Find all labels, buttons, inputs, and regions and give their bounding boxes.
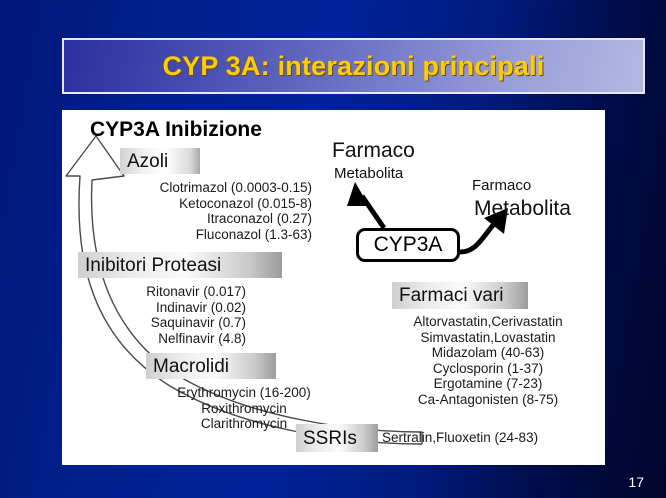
section-chip-inibitori-proteasi: Inibitori Proteasi: [78, 252, 282, 278]
slide-title-bar: CYP 3A: interazioni principali: [62, 38, 645, 94]
list-item: Ritonavir (0.017): [106, 284, 246, 300]
arrow-left-head: [347, 182, 369, 206]
chip-label: Azoli: [127, 152, 168, 171]
pathway-left-drug-label: Farmaco: [332, 140, 415, 162]
druglist-farmaci-vari: Altorvastatin,Cerivastatin Simvastatin,L…: [374, 314, 602, 407]
list-item: Clarithromycin: [162, 416, 326, 432]
list-item: Sertralin,Fluoxetin (24-83): [382, 430, 582, 446]
list-item: Ca-Antagonisten (8-75): [374, 392, 602, 408]
slide-canvas: CYP 3A: interazioni principali CYP3A Ini…: [0, 0, 666, 498]
arrow-right-shaft: [460, 224, 494, 252]
slide-number: 17: [628, 474, 644, 490]
list-item: Cyclosporin (1-37): [374, 361, 602, 377]
cyp3a-label: CYP3A: [374, 233, 443, 257]
list-item: Simvastatin,Lovastatin: [374, 330, 602, 346]
list-item: Ergotamine (7-23): [374, 376, 602, 392]
cyp3a-enzyme-box: CYP3A: [356, 228, 460, 262]
list-item: Roxithromycin: [162, 401, 326, 417]
list-item: Itraconazol (0.27): [140, 211, 312, 227]
druglist-macrolidi: Erythromycin (16-200) Roxithromycin Clar…: [162, 385, 326, 432]
page-title: CYP 3A: interazioni principali: [64, 40, 643, 92]
chip-label: Farmaci vari: [399, 286, 504, 305]
list-item: Fluconazol (1.3-63): [140, 227, 312, 243]
list-item: Midazolam (40-63): [374, 345, 602, 361]
content-panel: CYP3A Inibizione Azoli Clotrimazol (0.00…: [62, 110, 605, 465]
chip-label: Macrolidi: [153, 357, 229, 376]
list-item: Indinavir (0.02): [106, 300, 246, 316]
druglist-inibitori-proteasi: Ritonavir (0.017) Indinavir (0.02) Saqui…: [106, 284, 246, 346]
section-chip-farmaci-vari: Farmaci vari: [392, 282, 528, 309]
druglist-azoli: Clotrimazol (0.0003-0.15) Ketoconazol (0…: [140, 180, 312, 242]
list-item: Clotrimazol (0.0003-0.15): [140, 180, 312, 196]
list-item: Ketoconazol (0.015-8): [140, 196, 312, 212]
chip-label: Inibitori Proteasi: [85, 256, 221, 275]
panel-heading: CYP3A Inibizione: [90, 118, 262, 142]
druglist-ssris: Sertralin,Fluoxetin (24-83): [382, 430, 582, 446]
list-item: Erythromycin (16-200): [162, 385, 326, 401]
pathway-right-drug-label: Farmaco: [472, 178, 531, 194]
pathway-right-metabolite-label: Metabolita: [474, 198, 571, 220]
list-item: Nelfinavir (4.8): [106, 331, 246, 347]
pathway-left-metabolite-label: Metabolita: [334, 166, 403, 182]
list-item: Saquinavir (0.7): [106, 315, 246, 331]
section-chip-macrolidi: Macrolidi: [146, 353, 276, 379]
list-item: Altorvastatin,Cerivastatin: [374, 314, 602, 330]
section-chip-azoli: Azoli: [120, 148, 200, 174]
